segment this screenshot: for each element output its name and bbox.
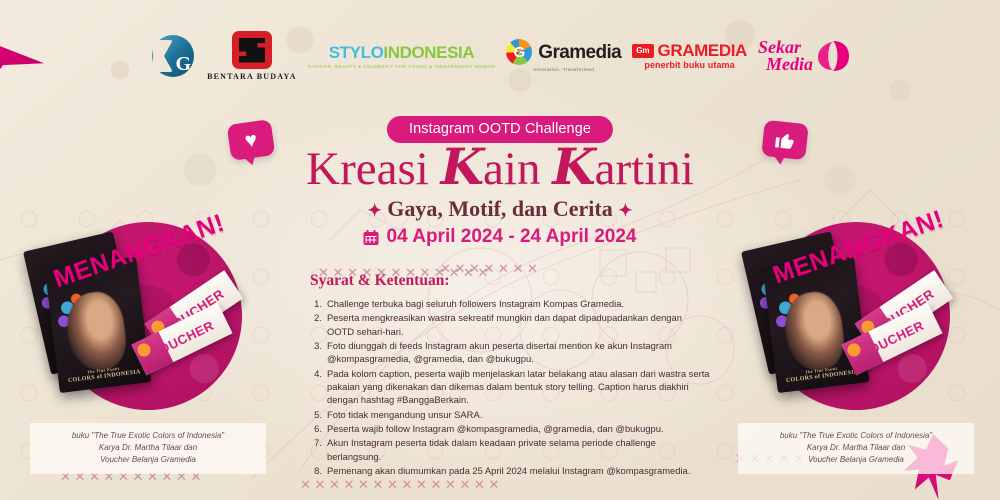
prize-caption-line-3: Voucher Belanja Gramedia — [744, 454, 968, 466]
terms-list: 1.Challenge terbuka bagi seluruh followe… — [310, 297, 710, 477]
logo-gramedia-penerbit: Gm GRAMEDIA penerbit buku utama — [632, 42, 747, 70]
title-part-2: K — [441, 137, 483, 196]
prize-caption-line-1: buku "The True Exotic Colors of Indonesi… — [744, 430, 968, 442]
page-subtitle: ✦ Gaya, Motif, dan Cerita ✦ — [368, 196, 633, 222]
gramedia-globe-icon — [506, 39, 532, 65]
list-item-text: Foto tidak mengandung unsur SARA. — [327, 408, 482, 421]
sparkle-left-icon: ✦ — [368, 201, 382, 220]
gpu-wordmark: GRAMEDIA — [658, 42, 747, 59]
title-part-1: Kreasi — [306, 143, 440, 195]
list-item-text: Pemenang akan diumumkan pada 25 April 20… — [327, 464, 690, 477]
terms-section: Syarat & Ketentuan: 1.Challenge terbuka … — [310, 272, 710, 478]
list-item-text: Pada kolom caption, peserta wajib menjel… — [327, 367, 710, 407]
heart-icon: ♥ — [243, 129, 258, 152]
list-item-text: Challenge terbuka bagi seluruh followers… — [327, 297, 624, 310]
title-part-4: K — [552, 137, 594, 196]
calendar-icon — [364, 230, 379, 245]
prize-caption-line-2: Karya Dr. Martha Tilaar dan — [744, 442, 968, 454]
list-item: 5.Foto tidak mengandung unsur SARA. — [310, 408, 710, 421]
stylo-word-2: INDONESIA — [383, 43, 474, 62]
sekar-leaf-icon — [816, 40, 850, 72]
sparkle-right-icon: ✦ — [618, 201, 632, 220]
event-date-range: 04 April 2024 - 24 April 2024 — [364, 226, 637, 248]
partner-logos: G BENTARA BUDAYA STYLOINDONESIA FASHION,… — [150, 27, 850, 85]
prize-caption: buku "The True Exotic Colors of Indonesi… — [738, 423, 974, 474]
prize-caption-line-2: Karya Dr. Martha Tilaar dan — [36, 442, 260, 454]
gramedia-wordmark: Gramedia — [538, 43, 621, 62]
list-item-number: 1. — [310, 297, 322, 310]
stylo-word-1: STYLO — [329, 43, 384, 62]
like-reaction-bubble — [761, 120, 809, 160]
list-item-number: 6. — [310, 422, 322, 435]
prize-block-left: The True Exotic COLORS of INDONESIA The … — [18, 218, 278, 478]
list-item-text: Foto diunggah di feeds Instagram akun pe… — [327, 339, 710, 366]
list-item: 7.Akun Instagram peserta tidak dalam kea… — [310, 436, 710, 463]
title-part-3: ain — [483, 143, 552, 195]
list-item: 8.Pemenang akan diumumkan pada 25 April … — [310, 464, 710, 477]
list-item: 6.Peserta wajib follow Instagram @kompas… — [310, 422, 710, 435]
title-part-5: artini — [595, 143, 694, 195]
kompas-gramedia-mark: G — [150, 33, 196, 79]
bentara-budaya-mark — [232, 31, 272, 69]
logo-kompas-gramedia: G — [150, 33, 196, 79]
bentara-budaya-label: BENTARA BUDAYA — [207, 73, 297, 81]
list-item: 3.Foto diunggah di feeds Instagram akun … — [310, 339, 710, 366]
list-item-number: 7. — [310, 436, 322, 463]
subtitle-text: Gaya, Motif, dan Cerita — [387, 196, 612, 221]
gpu-tagline: penerbit buku utama — [644, 61, 734, 70]
sekar-line-2: Media — [766, 56, 813, 73]
list-item-number: 2. — [310, 311, 322, 338]
list-item-text: Akun Instagram peserta tidak dalam keada… — [327, 436, 710, 463]
list-item-number: 3. — [310, 339, 322, 366]
logo-sekar-media: Sekar Media — [758, 39, 850, 72]
prize-caption: buku "The True Exotic Colors of Indonesi… — [30, 423, 266, 474]
logo-gramedia: Gramedia Innovation, Transformed — [506, 39, 621, 73]
list-item-number: 5. — [310, 408, 322, 421]
list-item-number: 4. — [310, 367, 322, 407]
gpu-mark: Gm — [632, 44, 653, 58]
list-item: 1.Challenge terbuka bagi seluruh followe… — [310, 297, 710, 310]
background-x-motif-row: ✕ ✕ ✕ ✕ ✕ ✕ ✕ ✕ ✕ ✕ ✕ ✕ ✕ ✕ — [300, 478, 499, 491]
prize-caption-line-3: Voucher Belanja Gramedia — [36, 454, 260, 466]
stylo-tagline: FASHION, BEAUTY & CELEBRITY FOR YOUNG & … — [308, 64, 495, 69]
thumbs-up-icon — [773, 128, 797, 152]
logo-stylo-indonesia: STYLOINDONESIA FASHION, BEAUTY & CELEBRI… — [308, 44, 495, 69]
prize-block-right: The True Exotic COLORS of INDONESIA The … — [726, 218, 986, 478]
list-item: 2.Peserta mengkreasikan wastra sekreatif… — [310, 311, 710, 338]
terms-heading: Syarat & Ketentuan: — [310, 272, 710, 290]
list-item-number: 8. — [310, 464, 322, 477]
page-title: Kreasi Kain Kartini — [306, 142, 694, 193]
logo-bentara-budaya: BENTARA BUDAYA — [207, 31, 297, 81]
list-item-text: Peserta mengkreasikan wastra sekreatif m… — [327, 311, 710, 338]
prize-caption-line-1: buku "The True Exotic Colors of Indonesi… — [36, 430, 260, 442]
list-item-text: Peserta wajib follow Instagram @kompasgr… — [327, 422, 664, 435]
heart-reaction-bubble: ♥ — [227, 119, 276, 161]
list-item: 4.Pada kolom caption, peserta wajib menj… — [310, 367, 710, 407]
date-range-text: 04 April 2024 - 24 April 2024 — [387, 226, 637, 248]
stylo-wordmark: STYLOINDONESIA — [329, 44, 475, 61]
gramedia-tagline: Innovation, Transformed — [533, 68, 594, 73]
promo-banner: ✕ ✕ ✕ ✕ ✕ ✕ ✕ ✕ ✕ ✕ ✕ ✕ ✕ ✕ ✕ ✕ ✕ ✕ ✕ ✕ … — [0, 0, 1000, 500]
